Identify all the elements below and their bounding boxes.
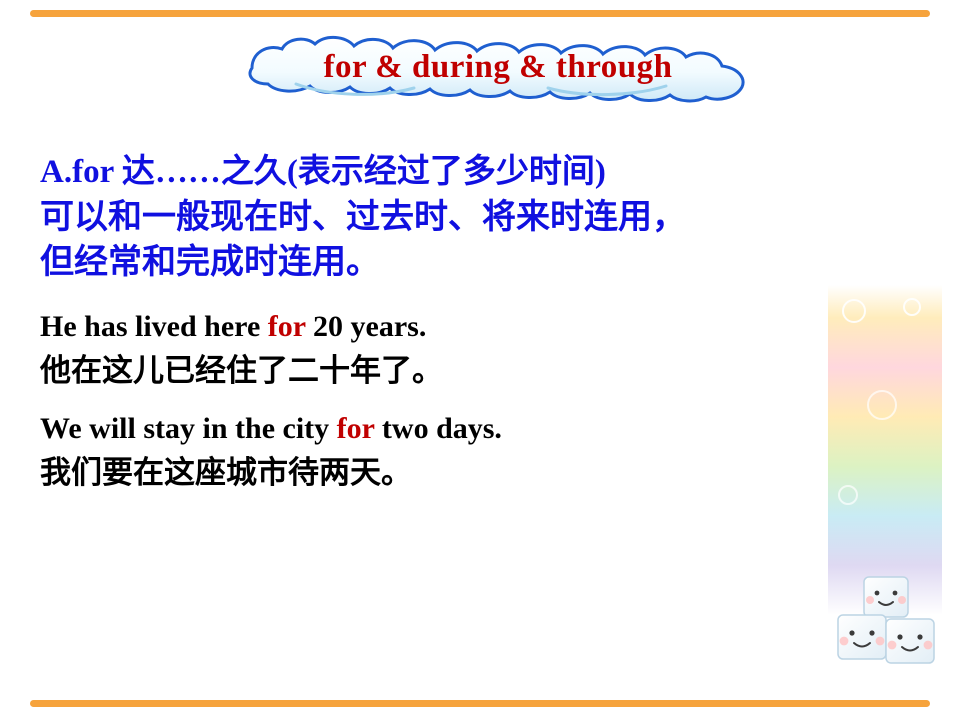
slide: for & during & through A.for 达……之久(表示经过了… <box>0 0 960 720</box>
translation-1: 他在这儿已经住了二十年了。 <box>40 349 890 393</box>
sugar-cube-right-icon <box>886 619 934 663</box>
example-2-pre: We will stay in the city <box>40 412 337 445</box>
decorative-rainbow-sugar-cubes-image <box>820 285 950 690</box>
page-title: for & during & through <box>218 32 778 104</box>
example-sentence-1: He has lived here for 20 years. <box>40 305 890 349</box>
text-line-1: A.for 达……之久(表示经过了多少时间) <box>40 150 890 195</box>
slide-body: A.for 达……之久(表示经过了多少时间) 可以和一般现在时、过去时、将来时连… <box>40 150 890 495</box>
example-2-highlight: for <box>337 412 375 445</box>
example-1-post: 20 years. <box>306 310 427 343</box>
text-line-3: 但经常和完成时连用。 <box>40 240 890 285</box>
example-2-post: two days. <box>374 412 502 445</box>
bottom-divider-rule <box>30 700 930 707</box>
example-1-highlight: for <box>268 310 306 343</box>
title-cloud-banner: for & during & through <box>218 32 778 104</box>
example-1-pre: He has lived here <box>40 310 268 343</box>
top-divider-rule <box>30 10 930 17</box>
spacer <box>40 285 890 305</box>
example-sentence-2: We will stay in the city for two days. <box>40 407 890 451</box>
translation-2: 我们要在这座城市待两天。 <box>40 451 890 495</box>
text-line-2: 可以和一般现在时、过去时、将来时连用， <box>40 195 890 240</box>
rainbow-column-icon <box>820 285 950 690</box>
sugar-cube-left-icon <box>838 615 886 659</box>
spacer-2 <box>40 393 890 407</box>
sugar-cube-back-icon <box>864 577 908 617</box>
